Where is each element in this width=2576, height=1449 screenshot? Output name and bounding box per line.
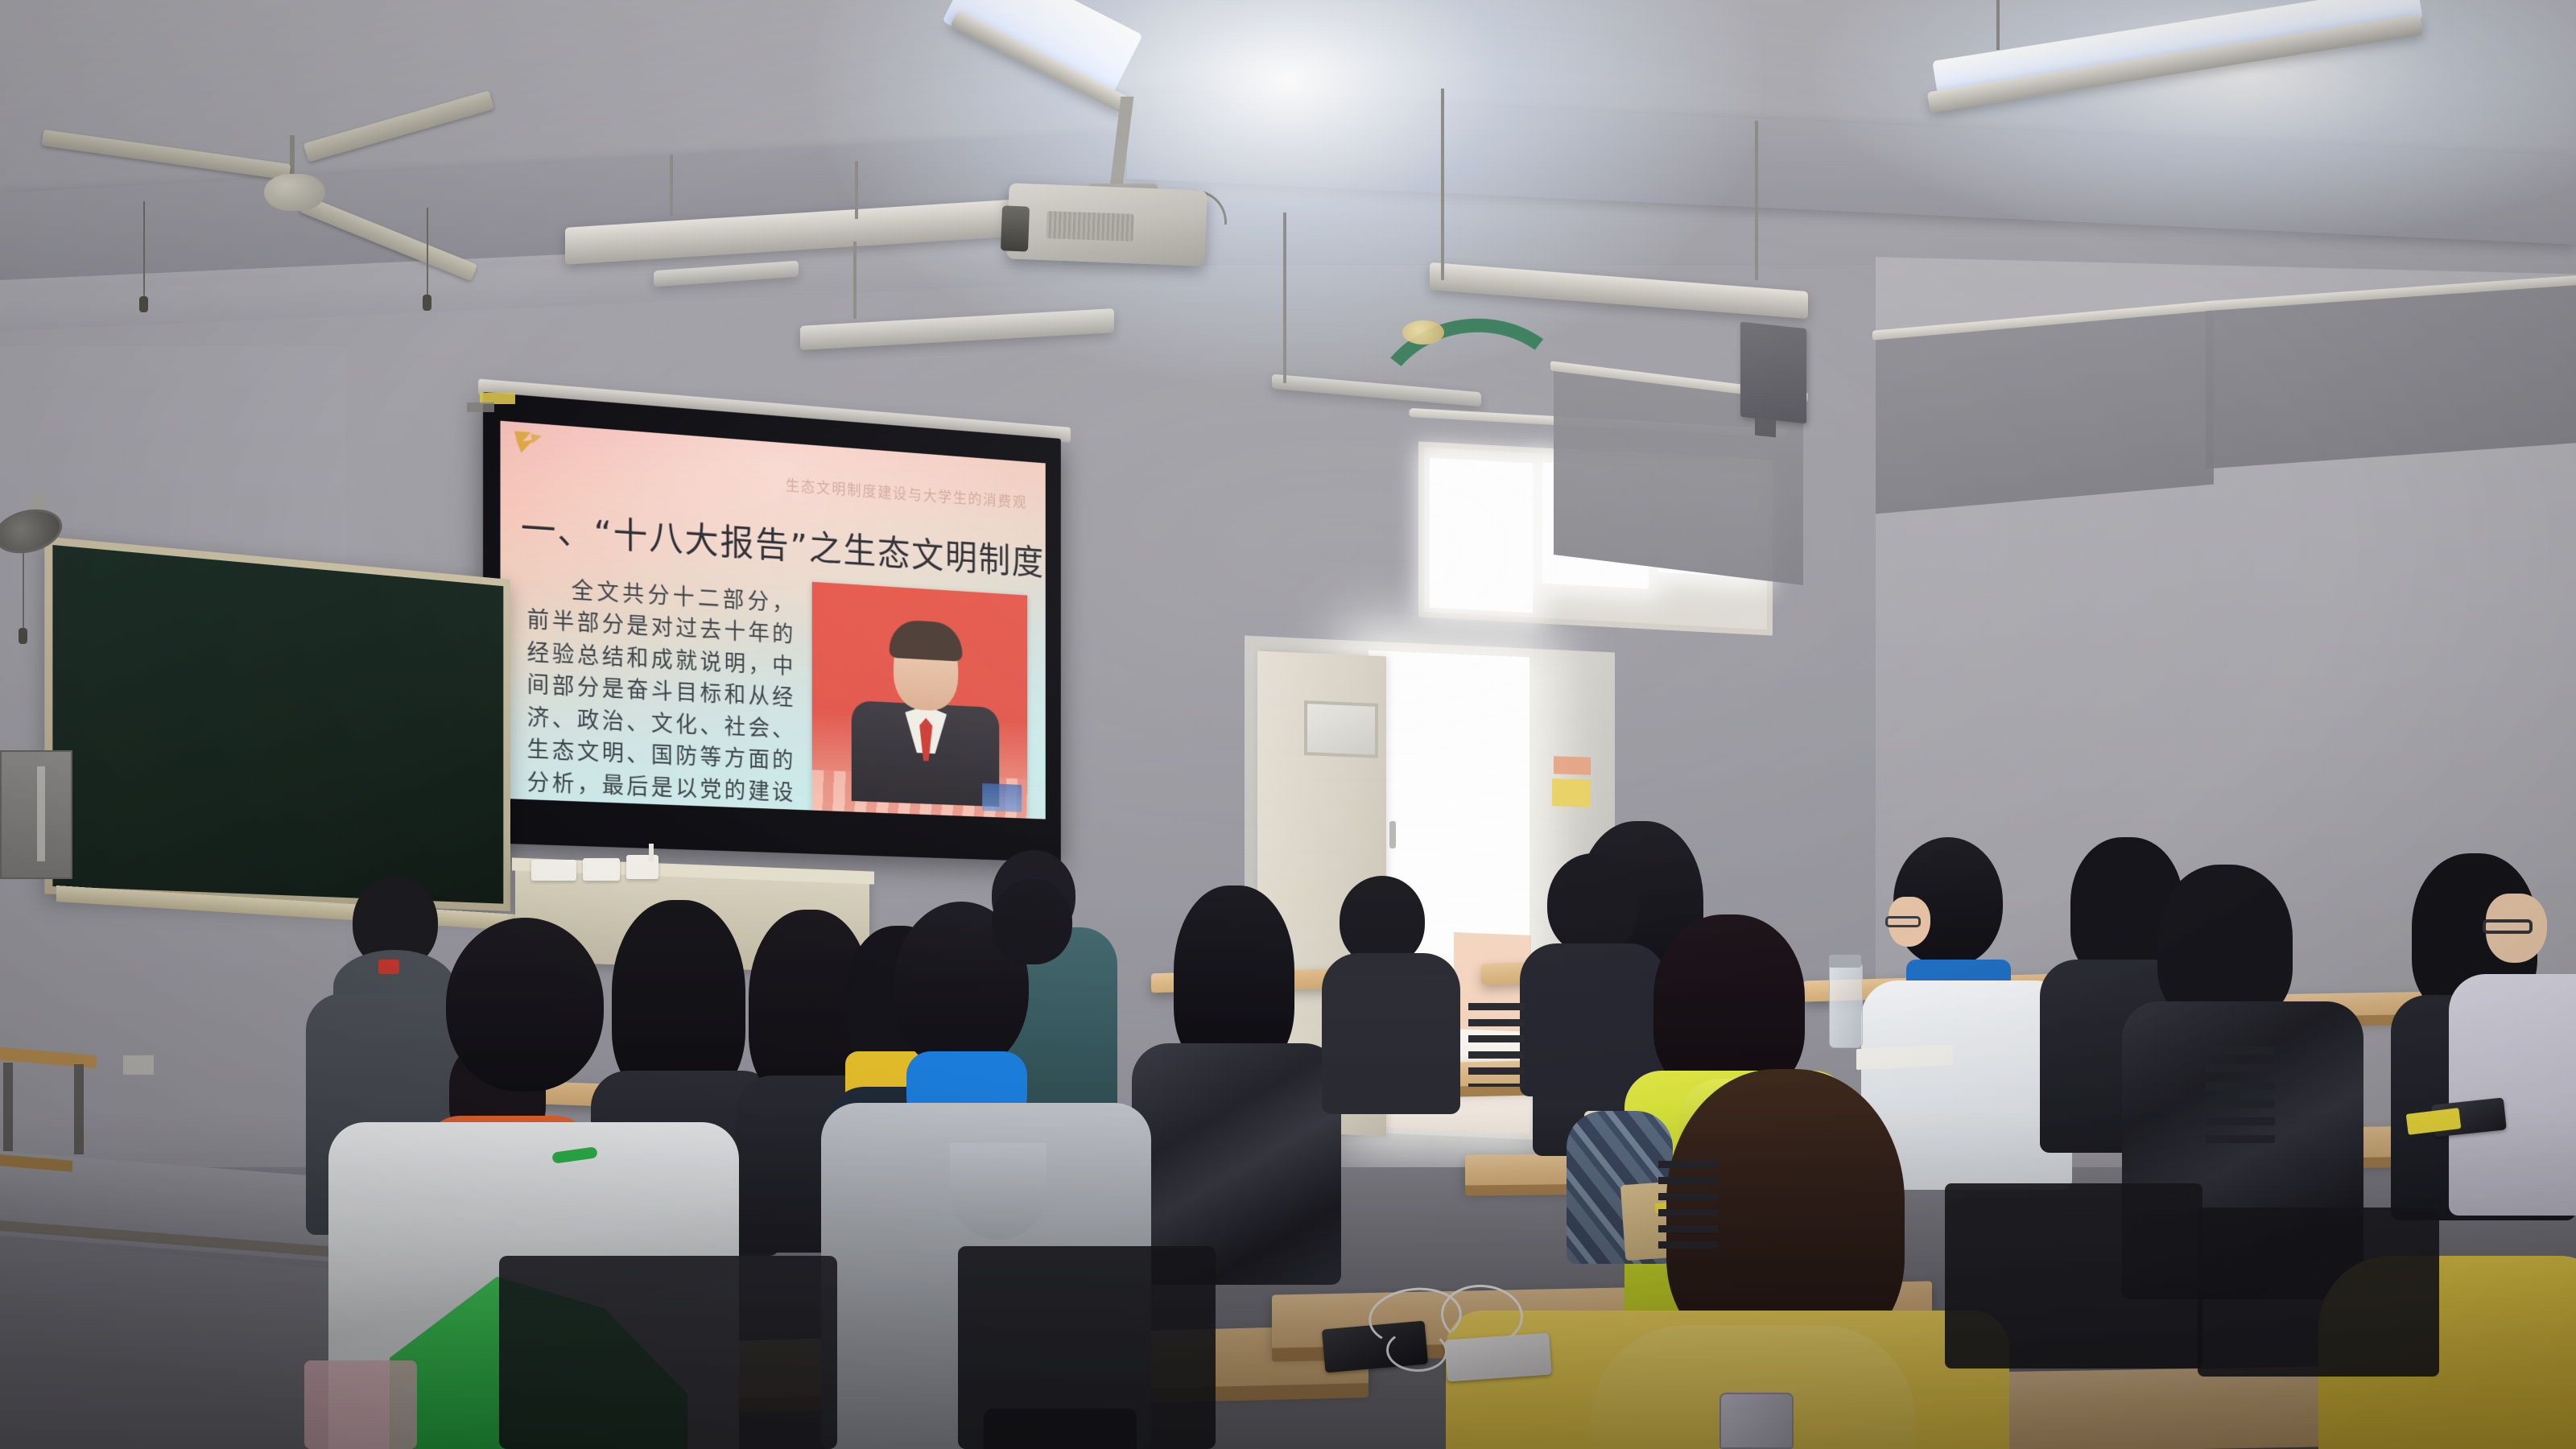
chair-back [2198, 1207, 2439, 1377]
hood [950, 1143, 1046, 1240]
panel-box-slot [37, 766, 45, 861]
projector-lens [1001, 205, 1030, 251]
slide-photo-hair [890, 619, 963, 662]
torso [1520, 943, 1666, 1096]
window-blind[interactable] [2206, 282, 2576, 469]
hair [1653, 914, 1805, 1093]
pink-bag [304, 1360, 417, 1449]
hair [612, 900, 745, 1100]
chair-backrest-slats [2206, 1046, 2275, 1145]
glass-jar [1719, 1393, 1794, 1449]
glasses-icon [1885, 916, 1921, 927]
projector-vent [1046, 211, 1133, 242]
slide-header-text: 生态文明制度建设与大学生的消费观 [786, 474, 1028, 513]
chair-back [958, 1246, 1216, 1449]
presentation-slide: 生态文明制度建设与大学生的消费观 一、“十八大报告”之生态文明制度建设 全文共分… [501, 421, 1046, 819]
torso [1322, 953, 1460, 1114]
fan-motor-housing [264, 174, 325, 211]
chair-leg [74, 1064, 84, 1154]
wall-notice-orange [1554, 756, 1591, 775]
light-hanger-rod [1441, 89, 1444, 280]
chair-back [499, 1256, 837, 1449]
head [1547, 853, 1639, 955]
blackboard-surface [52, 545, 503, 904]
ceiling-fan [32, 153, 451, 282]
bottle-cap [1829, 955, 1861, 968]
fan-pull-cord[interactable] [427, 208, 428, 296]
chair-backrest-slats [1658, 1161, 1718, 1249]
projection-screen: 生态文明制度建设与大学生的消费观 一、“十八大报告”之生态文明制度建设 全文共分… [483, 392, 1061, 862]
podium-object [626, 855, 658, 879]
jacket-logo [378, 960, 399, 974]
chair-back [1945, 1183, 2202, 1368]
wall-fan [0, 493, 66, 555]
light-hanger-rod [1996, 0, 2000, 50]
podium-object [583, 858, 620, 881]
wall-socket[interactable] [122, 1055, 155, 1075]
light-hanger-rod [1283, 213, 1286, 383]
torso [2449, 974, 2576, 1216]
head [446, 918, 604, 1092]
wall-fan-knob[interactable] [19, 628, 27, 644]
light-hanger-rod [853, 242, 857, 319]
chair-backrest-slats [1468, 1003, 1525, 1087]
wall-fan-cage [0, 502, 67, 559]
fan-pull-knob[interactable] [423, 295, 431, 311]
electrical-panel-box[interactable] [0, 750, 72, 879]
wall-bracket [467, 402, 494, 412]
window-blind[interactable] [1876, 308, 2214, 514]
garland-bow [1402, 320, 1444, 345]
podium-pointer [649, 844, 654, 861]
light-hanger-rod [855, 161, 858, 219]
wall-notice-yellow [1552, 778, 1591, 807]
podium-object [531, 860, 576, 881]
wall-fan-cord[interactable] [23, 552, 24, 630]
wall-speaker-bracket [1755, 418, 1776, 438]
fan-downrod [290, 135, 295, 175]
door-vision-panel [1304, 700, 1378, 758]
fan-pull-cord[interactable] [143, 201, 145, 298]
water-bottle-clear [1829, 963, 1863, 1048]
wall-speaker [1740, 322, 1806, 424]
blackboard [44, 536, 510, 911]
glasses-icon [2483, 919, 2533, 934]
slide-photo-watermark [982, 783, 1022, 812]
hair [2157, 865, 2293, 1022]
fan-pull-knob[interactable] [139, 296, 148, 312]
communist-party-emblem [510, 428, 551, 467]
light-hanger-rod [670, 155, 673, 216]
head [992, 879, 1072, 964]
chair-leg [3, 1063, 13, 1151]
slide-body-text: 全文共分十二部分，前半部分是对过去十年的经验总结和成就说明，中间部分是奋斗目标和… [527, 572, 795, 819]
slide-photo [812, 582, 1028, 819]
light-hanger-rod [1755, 121, 1758, 280]
door-latch[interactable] [1389, 821, 1396, 848]
slide-title: 一、“十八大报告”之生态文明制度建设 [521, 499, 1036, 584]
classroom-photo: 生态文明制度建设与大学生的消费观 一、“十八大报告”之生态文明制度建设 全文共分… [0, 0, 2576, 1449]
